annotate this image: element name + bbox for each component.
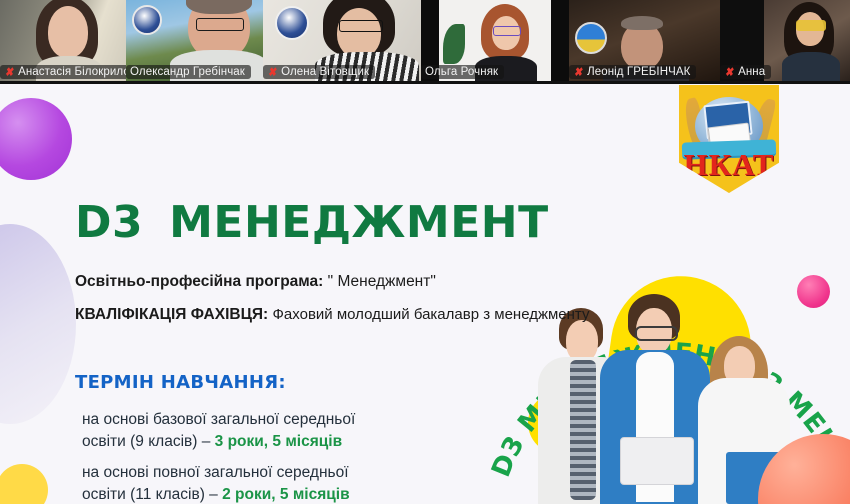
duration-line1: на основі базової загальної середньої — [82, 409, 355, 431]
microphone-muted-icon: ✖ — [574, 66, 582, 78]
qualification-label: КВАЛІФІКАЦІЯ ФАХІВЦЯ: — [75, 306, 268, 323]
page-title: D3МЕНЕДЖМЕНТ — [75, 197, 549, 248]
program-label: Освітньо-професійна програма: — [75, 273, 323, 290]
shared-slide: D3 МЕНЕДЖМЕНТ D3 МЕНЕДЖМЕНТ — [0, 84, 850, 504]
duration-line2-prefix: освіти (9 класів) – — [82, 433, 215, 450]
participant-name-badge: Олександр Гребінчак — [126, 65, 251, 79]
participant-name-badge: ✖ Олена Вітовщик — [263, 65, 375, 79]
duration-item: на основі базової загальної середньої ос… — [82, 409, 355, 453]
microphone-muted-icon: ✖ — [268, 66, 276, 78]
participant-name-badge: ✖ Анастасія Білокрилова — [0, 65, 126, 79]
participant-name-badge: ✖ Леонід ГРЕБІНЧАК — [569, 65, 696, 79]
participant-name: Олександр Гребінчак — [130, 66, 245, 78]
lavender-decor-shape — [0, 224, 76, 424]
participant-name-badge: Ольга Рочняк — [421, 65, 504, 79]
duration-line1: на основі повної загальної середньої — [82, 462, 350, 484]
participant-tile[interactable]: ✖ Олена Вітовщик — [263, 0, 421, 81]
duration-line2-prefix: освіти (11 класів) – — [82, 486, 222, 503]
purple-circle-decor — [0, 98, 72, 180]
microphone-muted-icon: ✖ — [725, 66, 733, 78]
students-artwork: D3 МЕНЕДЖМЕНТ D3 МЕНЕДЖМЕНТ — [488, 252, 850, 504]
zoom-screen-share-window: ✖ Анастасія Білокрилова Олександр Гребін… — [0, 0, 850, 504]
participant-name: Анна — [738, 66, 765, 78]
title-name: МЕНЕДЖМЕНТ — [169, 197, 548, 248]
microphone-muted-icon: ✖ — [5, 66, 13, 78]
nkat-college-logo: НКАТ — [679, 85, 779, 193]
participant-tile[interactable]: ✖ Леонід ГРЕБІНЧАК — [569, 0, 720, 81]
participant-tile[interactable]: ✖ Анна — [720, 0, 850, 81]
yellow-circle-decor — [0, 464, 48, 504]
duration-heading: ТЕРМІН НАВЧАННЯ: — [75, 372, 286, 393]
qualification-row: КВАЛІФІКАЦІЯ ФАХІВЦЯ: Фаховий молодший б… — [75, 306, 589, 324]
duration-item: на основі повної загальної середньої осв… — [82, 462, 350, 504]
program-row: Освітньо-професійна програма: " Менеджме… — [75, 273, 436, 291]
participant-name-badge: ✖ Анна — [720, 65, 771, 79]
participant-tile[interactable]: ✖ Анастасія Білокрилова — [0, 0, 126, 81]
participant-name: Олена Вітовщик — [281, 66, 369, 78]
participant-tile-active-speaker[interactable]: Ольга Рочняк — [421, 0, 569, 81]
duration-value: 3 роки, 5 місяців — [215, 433, 343, 450]
program-value: " Менеджмент" — [328, 273, 436, 290]
logo-letters: НКАТ — [679, 147, 779, 183]
participant-name: Анастасія Білокрилова — [18, 66, 126, 78]
qualification-value: Фаховий молодший бакалавр з менеджменту — [273, 306, 590, 323]
title-code: D3 — [75, 197, 143, 248]
duration-value: 2 роки, 5 місяців — [222, 486, 350, 503]
participant-name: Ольга Рочняк — [425, 66, 498, 78]
participant-name: Леонід ГРЕБІНЧАК — [587, 66, 690, 78]
participant-tile[interactable]: Олександр Гребінчак — [126, 0, 263, 81]
participant-video-strip: ✖ Анастасія Білокрилова Олександр Гребін… — [0, 0, 850, 81]
